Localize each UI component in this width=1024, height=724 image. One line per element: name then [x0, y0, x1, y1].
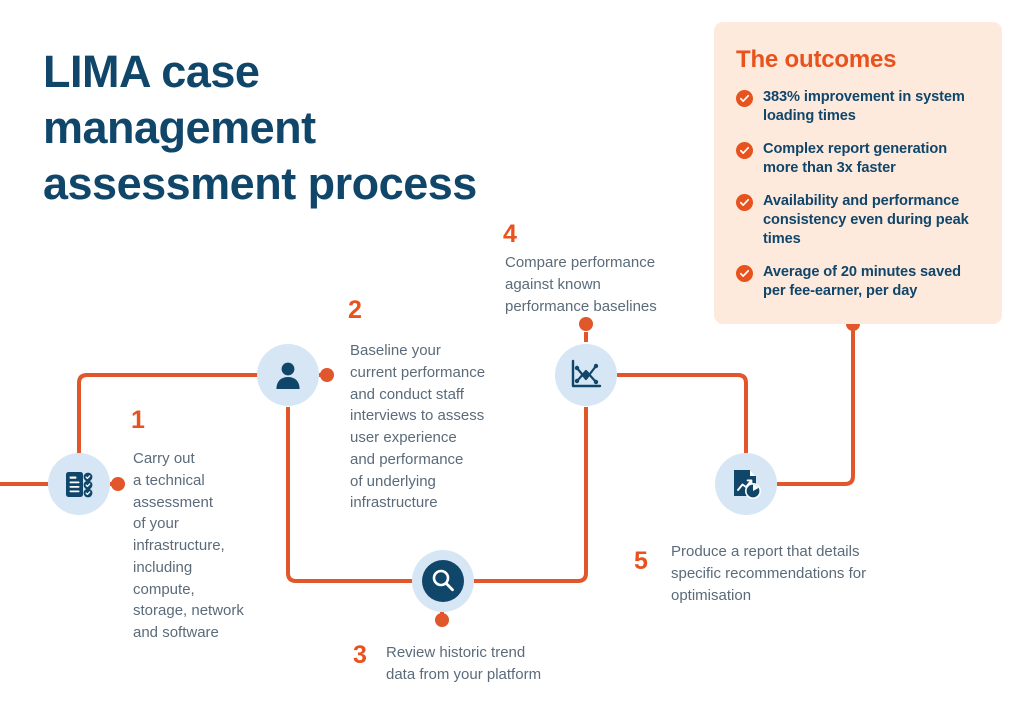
connector-1-to-2 [79, 375, 258, 453]
check-circle-icon [736, 90, 753, 107]
connector-5-to-outcomes [777, 324, 853, 484]
step-node-1[interactable] [48, 453, 110, 515]
report-chart-icon [728, 466, 764, 502]
terminal-dot-step-3 [435, 613, 449, 627]
outcome-item: Availability and performance consistency… [736, 192, 980, 250]
line-chart-icon [568, 357, 604, 393]
step-number-3: 3 [353, 641, 367, 670]
outcomes-panel: The outcomes 383% improvement in system … [714, 22, 1002, 324]
terminal-dot-step-1 [111, 477, 125, 491]
step-text-1: Carry out a technical assessment of your… [133, 448, 273, 644]
page-title: LIMA case management assessment process [43, 44, 563, 211]
step-node-3[interactable] [412, 550, 474, 612]
step-number-4: 4 [503, 220, 517, 249]
step-number-5: 5 [634, 547, 648, 576]
step-node-2[interactable] [257, 344, 319, 406]
terminal-dot-step-2 [320, 368, 334, 382]
person-icon [272, 359, 304, 391]
step-node-5[interactable] [715, 453, 777, 515]
step-node-4[interactable] [555, 344, 617, 406]
magnifier-icon [419, 557, 467, 605]
outcome-text: Average of 20 minutes saved per fee-earn… [763, 263, 980, 302]
step-number-2: 2 [348, 296, 362, 325]
check-circle-icon [736, 194, 753, 211]
check-circle-icon [736, 142, 753, 159]
infographic-canvas: LIMA case management assessment process [0, 0, 1024, 724]
outcome-text: Complex report generation more than 3x f… [763, 140, 980, 179]
outcome-item: Average of 20 minutes saved per fee-earn… [736, 263, 980, 302]
step-text-5: Produce a report that details specific r… [671, 541, 921, 606]
terminal-dot-step-4 [579, 317, 593, 331]
checklist-document-icon [62, 467, 96, 501]
check-circle-icon [736, 265, 753, 282]
outcome-text: 383% improvement in system loading times [763, 88, 980, 127]
step-text-3: Review historic trend data from your pla… [386, 642, 616, 686]
step-text-4: Compare performance against known perfor… [505, 252, 720, 317]
outcome-item: Complex report generation more than 3x f… [736, 140, 980, 179]
outcome-item: 383% improvement in system loading times [736, 88, 980, 127]
step-number-1: 1 [131, 406, 145, 435]
outcomes-title: The outcomes [736, 46, 980, 74]
step-text-2: Baseline your current performance and co… [350, 340, 530, 514]
connector-4-to-5 [617, 375, 746, 453]
outcome-text: Availability and performance consistency… [763, 192, 980, 250]
